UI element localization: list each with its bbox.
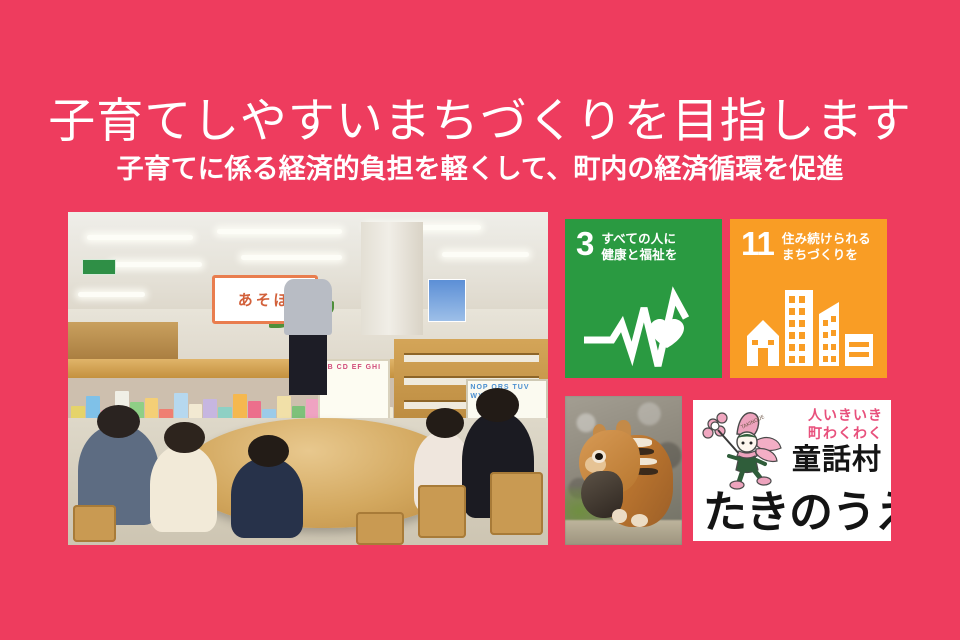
exit-sign-icon <box>82 259 116 276</box>
ceiling-light <box>111 262 202 267</box>
heartbeat-heart-icon <box>565 284 722 370</box>
ceiling-light <box>78 292 145 297</box>
sdg-card-3-title-line2: 健康と福祉を <box>601 247 677 263</box>
seated-child-1-head <box>164 422 205 454</box>
chipmunk-photo <box>565 396 682 545</box>
page-title: 子育てしやすいまちづくりを目指します <box>0 96 960 145</box>
logo-tagline: 人いきいき 町わくわく <box>808 407 883 442</box>
seated-child-2 <box>231 458 303 538</box>
chipmunk-paw <box>612 509 627 522</box>
sdg-card-11-title: 住み続けられる まちづくりを <box>782 230 871 263</box>
photo-counter <box>68 322 178 362</box>
wall-poster <box>428 279 466 322</box>
logo-tagline-line1: 人いきいき <box>808 407 883 425</box>
standing-adult-torso <box>284 279 332 336</box>
city-buildings-icon <box>730 284 887 370</box>
sdg-card-11: 11 住み続けられる まちづくりを <box>730 219 887 378</box>
town-logo: TAKINOUE 人いきいき 町わ <box>689 396 895 545</box>
standing-adult-legs <box>289 329 327 396</box>
ceiling-light <box>217 229 342 234</box>
logo-tagline-line2: 町わくわく <box>808 425 883 443</box>
seated-child-2-head <box>248 435 289 467</box>
chipmunk-paw <box>631 514 649 527</box>
sdg-card-11-title-line2: まちづくりを <box>782 247 871 263</box>
slide-canvas: 子育てしやすいまちづくりを目指します 子育てに係る経済的負担を軽くして、町内の経… <box>0 0 960 640</box>
page-subtitle: 子育てに係る経済的負担を軽くして、町内の経済循環を促進 <box>0 155 960 185</box>
seated-child-1 <box>150 445 217 532</box>
photo-pillar <box>361 222 423 335</box>
ceiling-light <box>241 255 342 260</box>
sdg-card-3: 3 すべての人に 健康と福祉を <box>565 219 722 378</box>
chair <box>490 472 543 535</box>
sdg-card-3-header: 3 すべての人に 健康と福祉を <box>565 219 722 263</box>
logo-village-text: 童話村 <box>792 446 882 475</box>
seated-adult-right-head <box>476 388 519 421</box>
sdg-card-11-title-line1: 住み続けられる <box>782 231 871 247</box>
library-photo: あそぼ <box>68 212 548 545</box>
sdg-card-11-header: 11 住み続けられる まちづくりを <box>730 219 887 263</box>
ceiling-light <box>442 252 528 257</box>
takinoue-mascot-icon: TAKINOUE <box>699 404 791 496</box>
abc-poster-left: AB CD EF GHI <box>318 359 390 426</box>
chair <box>73 505 116 542</box>
sdg-card-3-number: 3 <box>576 230 593 257</box>
sdg-card-3-title-line1: すべての人に <box>601 231 677 247</box>
chair <box>418 485 466 538</box>
sdg-card-3-title: すべての人に 健康と福祉を <box>601 230 677 263</box>
chair <box>356 512 404 545</box>
sdg-card-11-number: 11 <box>741 230 774 257</box>
logo-town-name: たきのうえ <box>703 491 895 535</box>
ceiling-light <box>87 235 193 240</box>
